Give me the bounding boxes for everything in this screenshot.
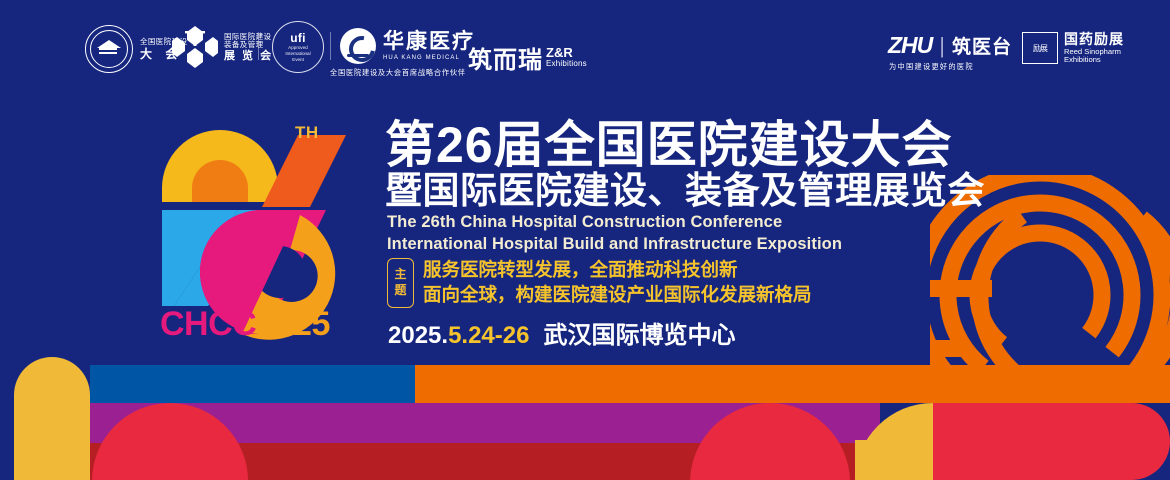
huakang-cn-caption: 全国医院建设及大会首席战略合作伙伴 — [330, 68, 466, 78]
chcc-wordmark-prefix: CHCC — [160, 305, 256, 343]
theme-badge-char2: 题 — [394, 283, 406, 299]
chcc-wordmark: CHCC2025 — [160, 305, 330, 344]
event-date-year: 2025. — [388, 322, 448, 349]
logo-divider-1 — [258, 32, 259, 60]
reed-badge-text: 励展 — [1033, 43, 1047, 54]
band-red-rounded-block — [933, 403, 1170, 480]
theme-badge: 主 题 — [387, 258, 414, 308]
theme-block: 主 题 服务医院转型发展，全面推动科技创新 面向全球，构建医院建设产业国际化发展… — [387, 258, 812, 308]
chcc-wordmark-year: 2025 — [256, 305, 330, 343]
chcc-2025-conference-banner: 全国医院建设 大 会 国际医院建设 — [0, 0, 1170, 480]
theme-badge-char1: 主 — [394, 267, 406, 283]
event-venue: 武汉国际博览中心 — [543, 322, 735, 349]
huakang-cn-main: 华康医疗 — [383, 31, 475, 53]
partner-logo-strip: 全国医院建设 大 会 国际医院建设 — [0, 0, 1170, 95]
zr-exhibitions-logo: 筑而瑞 Z&R Exhibitions — [468, 40, 587, 75]
band-blue-strip — [90, 365, 415, 403]
reed-en-line2: Exhibitions — [1064, 56, 1124, 65]
zr-en-line2: Exhibitions — [546, 60, 587, 68]
logo-divider-2 — [330, 32, 331, 60]
theme-line-2: 面向全球，构建医院建设产业国际化发展新格局 — [423, 283, 812, 308]
reed-sinopharm-logo: 励展 国药励展 Reed Sinopharm Exhibitions — [1022, 32, 1124, 65]
exhibition-logo-cn-large: 展 览 会 — [224, 51, 273, 63]
swirl-leaf-icon — [340, 28, 376, 64]
page-title-cn-line1: 第26届全国医院建设大会 — [385, 120, 953, 170]
reed-sinopharm-badge-icon: 励展 — [1022, 32, 1058, 64]
huakang-en-sub: HUA KANG MEDICAL — [383, 55, 475, 61]
page-title-en-line2: International Hospital Build and Infrast… — [387, 234, 842, 256]
page-title-en: The 26th China Hospital Construction Con… — [387, 212, 842, 256]
ufi-logo: ufi Approved International Event — [272, 21, 324, 73]
event-date-days: 5.24-26 — [448, 322, 529, 349]
zhu-en-main: ZHU — [888, 32, 932, 59]
emblem-ordinal-suffix: TH — [295, 123, 319, 143]
ufi-logo-main: ufi — [290, 31, 306, 45]
zr-cn-main: 筑而瑞 — [468, 40, 543, 75]
exhibition-logo-cn-line2: 装备及管理 — [224, 41, 273, 49]
reed-cn-main: 国药励展 — [1064, 32, 1124, 48]
band-yellow-block — [855, 440, 933, 480]
zr-en-line1: Z&R — [546, 46, 587, 60]
event-date-venue: 2025.5.24-26武汉国际博览中心 — [388, 315, 735, 350]
zhu-yitai-logo: ZHU | 筑医台 — [888, 32, 1012, 59]
ufi-logo-sub3: Event — [292, 57, 304, 63]
page-title-cn-line2: 暨国际医院建设、装备及管理展览会 — [385, 172, 985, 209]
zhu-cn-main: 筑医台 — [952, 32, 1012, 59]
snowflake-hex-icon — [172, 26, 218, 70]
zhu-logo-separator: | — [939, 33, 945, 59]
huakang-medical-logo: 华康医疗 HUA KANG MEDICAL — [340, 28, 475, 64]
classical-roof-emblem-icon — [85, 25, 133, 73]
band-yellow-pill — [14, 357, 90, 480]
page-title-en-line1: The 26th China Hospital Construction Con… — [387, 212, 842, 234]
theme-line-1: 服务医院转型发展，全面推动科技创新 — [423, 258, 812, 283]
bottom-color-band — [0, 350, 1170, 480]
band-orange-strip — [415, 365, 1170, 403]
zhu-cn-caption: 为中国建设更好的医院 — [889, 62, 974, 72]
